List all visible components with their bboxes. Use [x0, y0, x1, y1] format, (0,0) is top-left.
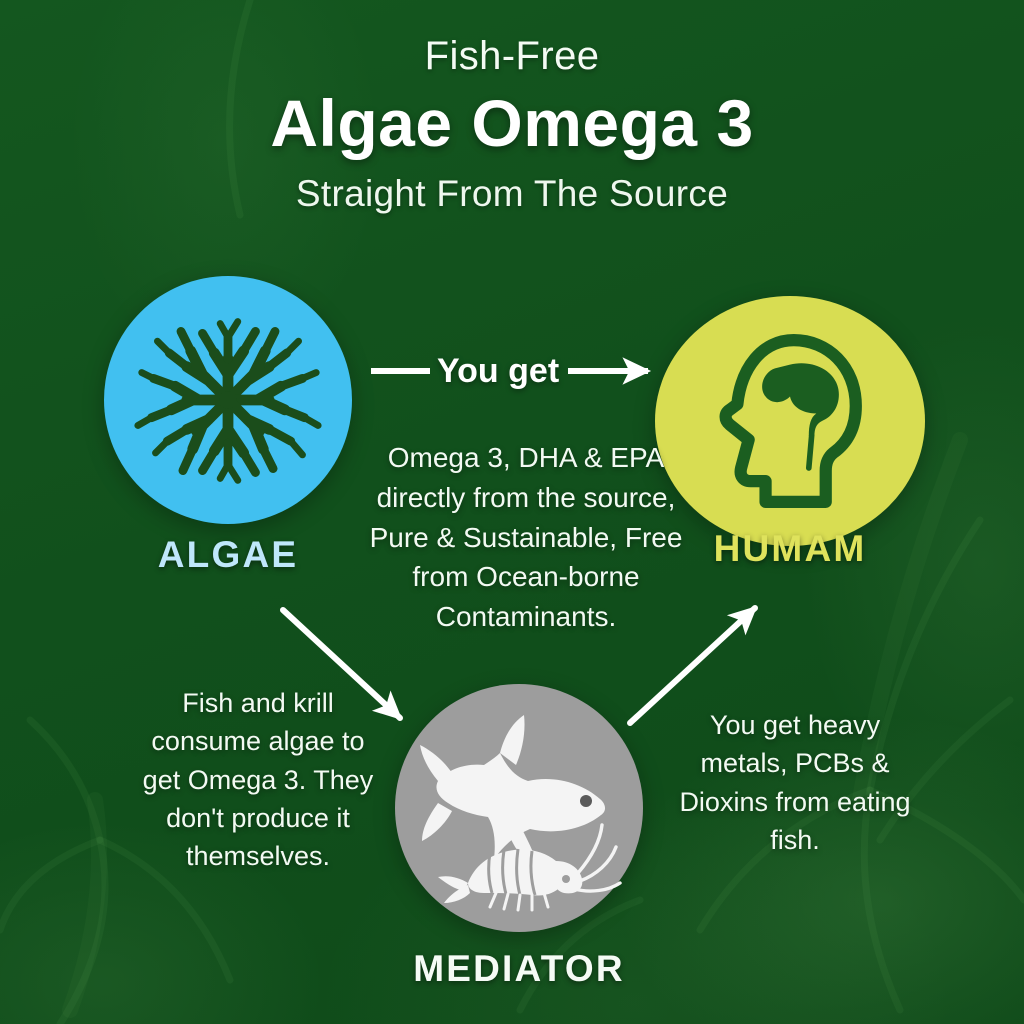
- fish-and-shrimp-icon: [404, 693, 634, 923]
- algae-circle: [104, 276, 352, 524]
- node-label-human: HUMAM: [655, 528, 925, 570]
- infographic-canvas: Fish-Free Algae Omega 3 Straight From Th…: [0, 0, 1024, 1024]
- connector-label-you-get: You get: [437, 352, 559, 391]
- node-label-mediator: MEDIATOR: [395, 948, 643, 990]
- node-algae[interactable]: ALGAE: [104, 276, 352, 524]
- page-title: Algae Omega 3: [0, 85, 1024, 161]
- human-head-brain-icon: [693, 327, 887, 515]
- kicker-text: Fish-Free: [0, 34, 1024, 79]
- header-block: Fish-Free Algae Omega 3 Straight From Th…: [0, 34, 1024, 215]
- mediator-circle: [395, 684, 643, 932]
- page-subtitle: Straight From The Source: [0, 173, 1024, 215]
- copy-fish-krill-consume: Fish and krill consume algae to get Omeg…: [132, 684, 384, 876]
- copy-algae-benefits: Omega 3, DHA & EPA directly from the sou…: [366, 438, 686, 637]
- copy-contaminants-warning: You get heavy metals, PCBs & Dioxins fro…: [664, 706, 926, 859]
- node-human[interactable]: HUMAM: [655, 296, 925, 546]
- node-label-algae: ALGAE: [104, 534, 352, 576]
- algae-seaweed-icon: [130, 302, 326, 498]
- node-mediator[interactable]: MEDIATOR: [395, 684, 643, 932]
- human-circle: [655, 296, 925, 546]
